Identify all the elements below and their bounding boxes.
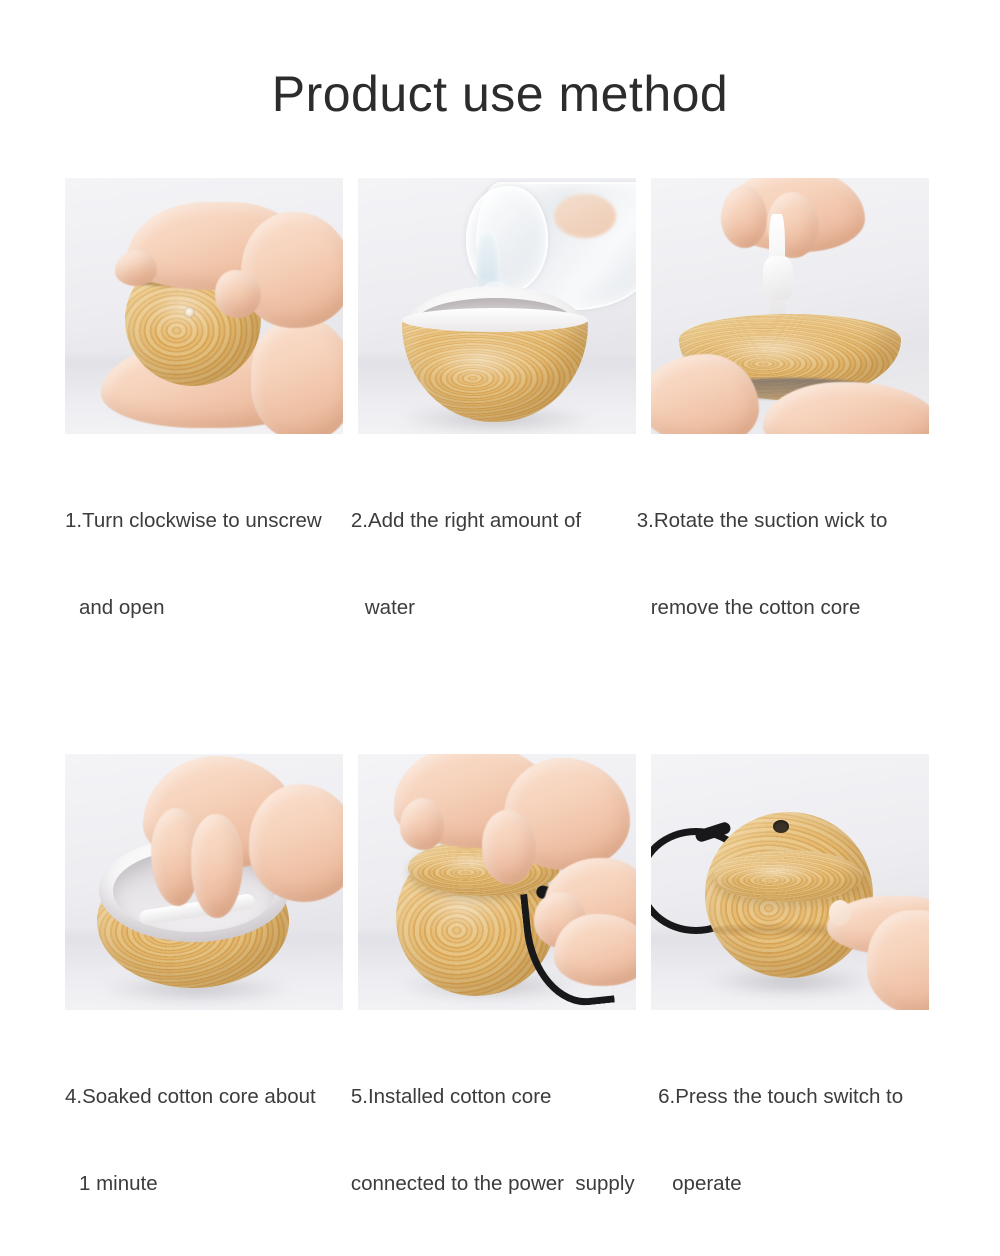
finger-right bbox=[482, 810, 536, 884]
finger-index bbox=[721, 186, 767, 248]
step-caption-4-line2: 1 minute bbox=[65, 1169, 336, 1198]
infographic-page: Product use method bbox=[0, 0, 1000, 871]
bowl-white-lip bbox=[402, 308, 588, 332]
step-caption-1: 1.Turn clockwise to unscrew and open bbox=[65, 448, 336, 680]
hand-upper-wrist bbox=[241, 212, 343, 328]
step-caption-3-line1: 3.Rotate the suction wick to bbox=[637, 506, 929, 535]
step-caption-3-line2: remove the cotton core bbox=[637, 593, 929, 622]
captions-row-bottom: 4.Soaked cotton core about 1 minute 5.In… bbox=[65, 1024, 929, 1256]
step-caption-2-line1: 2.Add the right amount of bbox=[351, 506, 622, 535]
hand-holding-pitcher bbox=[554, 194, 616, 238]
page-title: Product use method bbox=[0, 64, 1000, 124]
diffuser-lid bbox=[713, 850, 863, 902]
step-cell-3 bbox=[651, 178, 929, 434]
thumb-upper bbox=[115, 250, 157, 286]
step-caption-1-line2: and open bbox=[65, 593, 336, 622]
step-photo-1 bbox=[65, 178, 343, 434]
step-cell-6 bbox=[651, 754, 929, 1010]
brand-mark-icon bbox=[184, 307, 195, 318]
finger-upper bbox=[215, 270, 261, 318]
step-caption-6-line2: operate bbox=[658, 1169, 929, 1198]
step-caption-5-line1: 5.Installed cotton core bbox=[351, 1082, 643, 1111]
wick-collar bbox=[763, 256, 793, 300]
step-cell-5 bbox=[358, 754, 636, 1010]
step-caption-5: 5.Installed cotton core connected to the… bbox=[351, 1024, 643, 1256]
step-photo-4 bbox=[65, 754, 343, 1010]
step-caption-4-line1: 4.Soaked cotton core about bbox=[65, 1082, 336, 1111]
hand-wrist bbox=[249, 784, 343, 902]
steps-grid: 1.Turn clockwise to unscrew and open 2.A… bbox=[65, 178, 929, 1256]
step-cell-1 bbox=[65, 178, 343, 434]
step-caption-4: 4.Soaked cotton core about 1 minute bbox=[65, 1024, 336, 1256]
fingertip-nail bbox=[829, 900, 851, 926]
captions-row-top: 1.Turn clockwise to unscrew and open 2.A… bbox=[65, 448, 929, 680]
step-cell-4 bbox=[65, 754, 343, 1010]
step-caption-2-line2: water bbox=[351, 593, 622, 622]
steps-row-top: 1.Turn clockwise to unscrew and open 2.A… bbox=[65, 178, 929, 680]
step-caption-6: 6.Press the touch switch to operate bbox=[658, 1024, 929, 1256]
finger-left bbox=[400, 798, 444, 850]
step-photo-6 bbox=[651, 754, 929, 1010]
step-caption-2: 2.Add the right amount of water bbox=[351, 448, 622, 680]
mist-outlet-hole bbox=[773, 820, 789, 833]
hand-cable-lower bbox=[554, 914, 636, 986]
step-caption-1-line1: 1.Turn clockwise to unscrew bbox=[65, 506, 336, 535]
hand-lower-wrist bbox=[251, 316, 343, 434]
step-caption-3: 3.Rotate the suction wick to remove the … bbox=[637, 448, 929, 680]
step-caption-6-line1: 6.Press the touch switch to bbox=[658, 1082, 929, 1111]
step-photo-5 bbox=[358, 754, 636, 1010]
step-cell-2 bbox=[358, 178, 636, 434]
steps-row-bottom: 4.Soaked cotton core about 1 minute 5.In… bbox=[65, 754, 929, 1256]
step-photo-2 bbox=[358, 178, 636, 434]
step-caption-5-line2: connected to the power supply bbox=[351, 1169, 643, 1198]
step-photo-3 bbox=[651, 178, 929, 434]
